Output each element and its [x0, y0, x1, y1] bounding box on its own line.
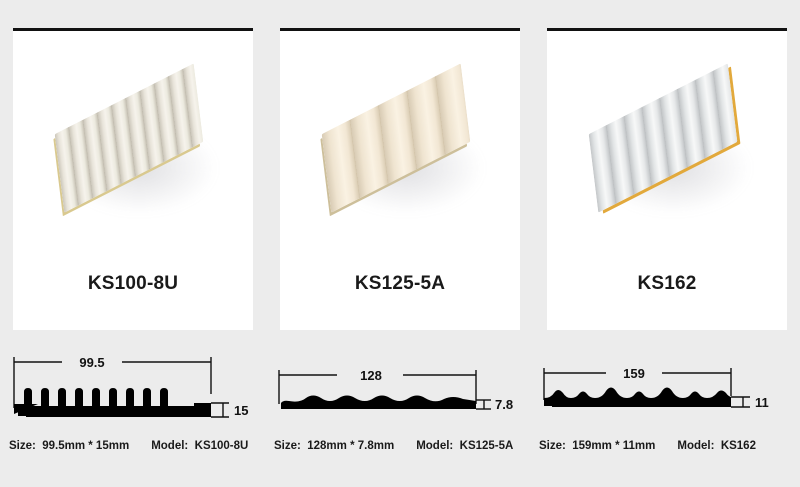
model-value: KS100-8U [195, 440, 249, 452]
size-spec: Size: 128mm * 7.8mm [274, 440, 394, 452]
specification-row: Size: 99.5mm * 15mmModel: KS100-8U Size:… [0, 440, 800, 464]
size-spec: Size: 159mm * 11mm [539, 440, 655, 452]
cross-section-ks125-5a: 128 7.8 [273, 348, 521, 430]
profile-shape [8, 348, 38, 414]
panel-illustration [583, 70, 751, 220]
cross-section-ks100-8u: 99.5 15 [8, 348, 256, 430]
height-dimension [731, 397, 750, 407]
height-dimension [211, 403, 229, 417]
panel-illustration [316, 70, 484, 220]
product-name-label: KS125-5A [355, 273, 445, 295]
product-card-ks125-5a[interactable]: KS125-5A [280, 28, 520, 330]
width-dimension-label: 128 [360, 368, 382, 383]
spec-ks162: Size: 159mm * 11mmModel: KS162 [539, 440, 756, 452]
size-value: 128mm * 7.8mm [307, 440, 394, 452]
size-value: 159mm * 11mm [572, 440, 655, 452]
profile-drawing: 159 11 [538, 348, 790, 430]
panel-illustration [49, 70, 217, 220]
model-label: Model: [677, 440, 714, 452]
product-name-label: KS100-8U [88, 273, 178, 295]
model-spec: Model: KS125-5A [416, 440, 513, 452]
profile-drawing: 99.5 15 [8, 348, 256, 430]
product-photo-ks100-8u [13, 31, 253, 259]
model-spec: Model: KS162 [677, 440, 756, 452]
size-label: Size: [9, 440, 36, 452]
model-label: Model: [416, 440, 453, 452]
model-value: KS125-5A [460, 440, 514, 452]
size-label: Size: [539, 440, 566, 452]
size-value: 99.5mm * 15mm [42, 440, 129, 452]
product-photo-ks162 [547, 31, 787, 259]
product-photo-ks125-5a [280, 31, 520, 259]
product-card-ks162[interactable]: KS162 [547, 28, 787, 330]
spec-ks125-5a: Size: 128mm * 7.8mmModel: KS125-5A [274, 440, 513, 452]
model-value: KS162 [721, 440, 756, 452]
product-name-label: KS162 [637, 273, 696, 295]
profile-drawing: 128 7.8 [273, 348, 521, 430]
size-spec: Size: 99.5mm * 15mm [9, 440, 129, 452]
profile-base [26, 410, 211, 417]
profile-base [552, 401, 731, 407]
model-spec: Model: KS100-8U [151, 440, 248, 452]
size-label: Size: [274, 440, 301, 452]
height-dimension-label: 11 [755, 395, 769, 410]
width-dimension-label: 159 [623, 366, 645, 381]
height-dimension [476, 400, 491, 409]
height-dimension-label: 7.8 [495, 397, 513, 412]
product-card-ks100-8u[interactable]: KS100-8U [13, 28, 253, 330]
product-card-row: KS100-8U KS125-5A KS162 [13, 28, 787, 330]
profile-base [281, 404, 476, 409]
spec-ks100-8u: Size: 99.5mm * 15mmModel: KS100-8U [9, 440, 248, 452]
cross-section-ks162: 159 11 [538, 348, 790, 430]
technical-drawing-row: 99.5 15 128 [0, 348, 800, 430]
width-dimension-label: 99.5 [79, 355, 104, 370]
height-dimension-label: 15 [234, 403, 248, 418]
model-label: Model: [151, 440, 188, 452]
